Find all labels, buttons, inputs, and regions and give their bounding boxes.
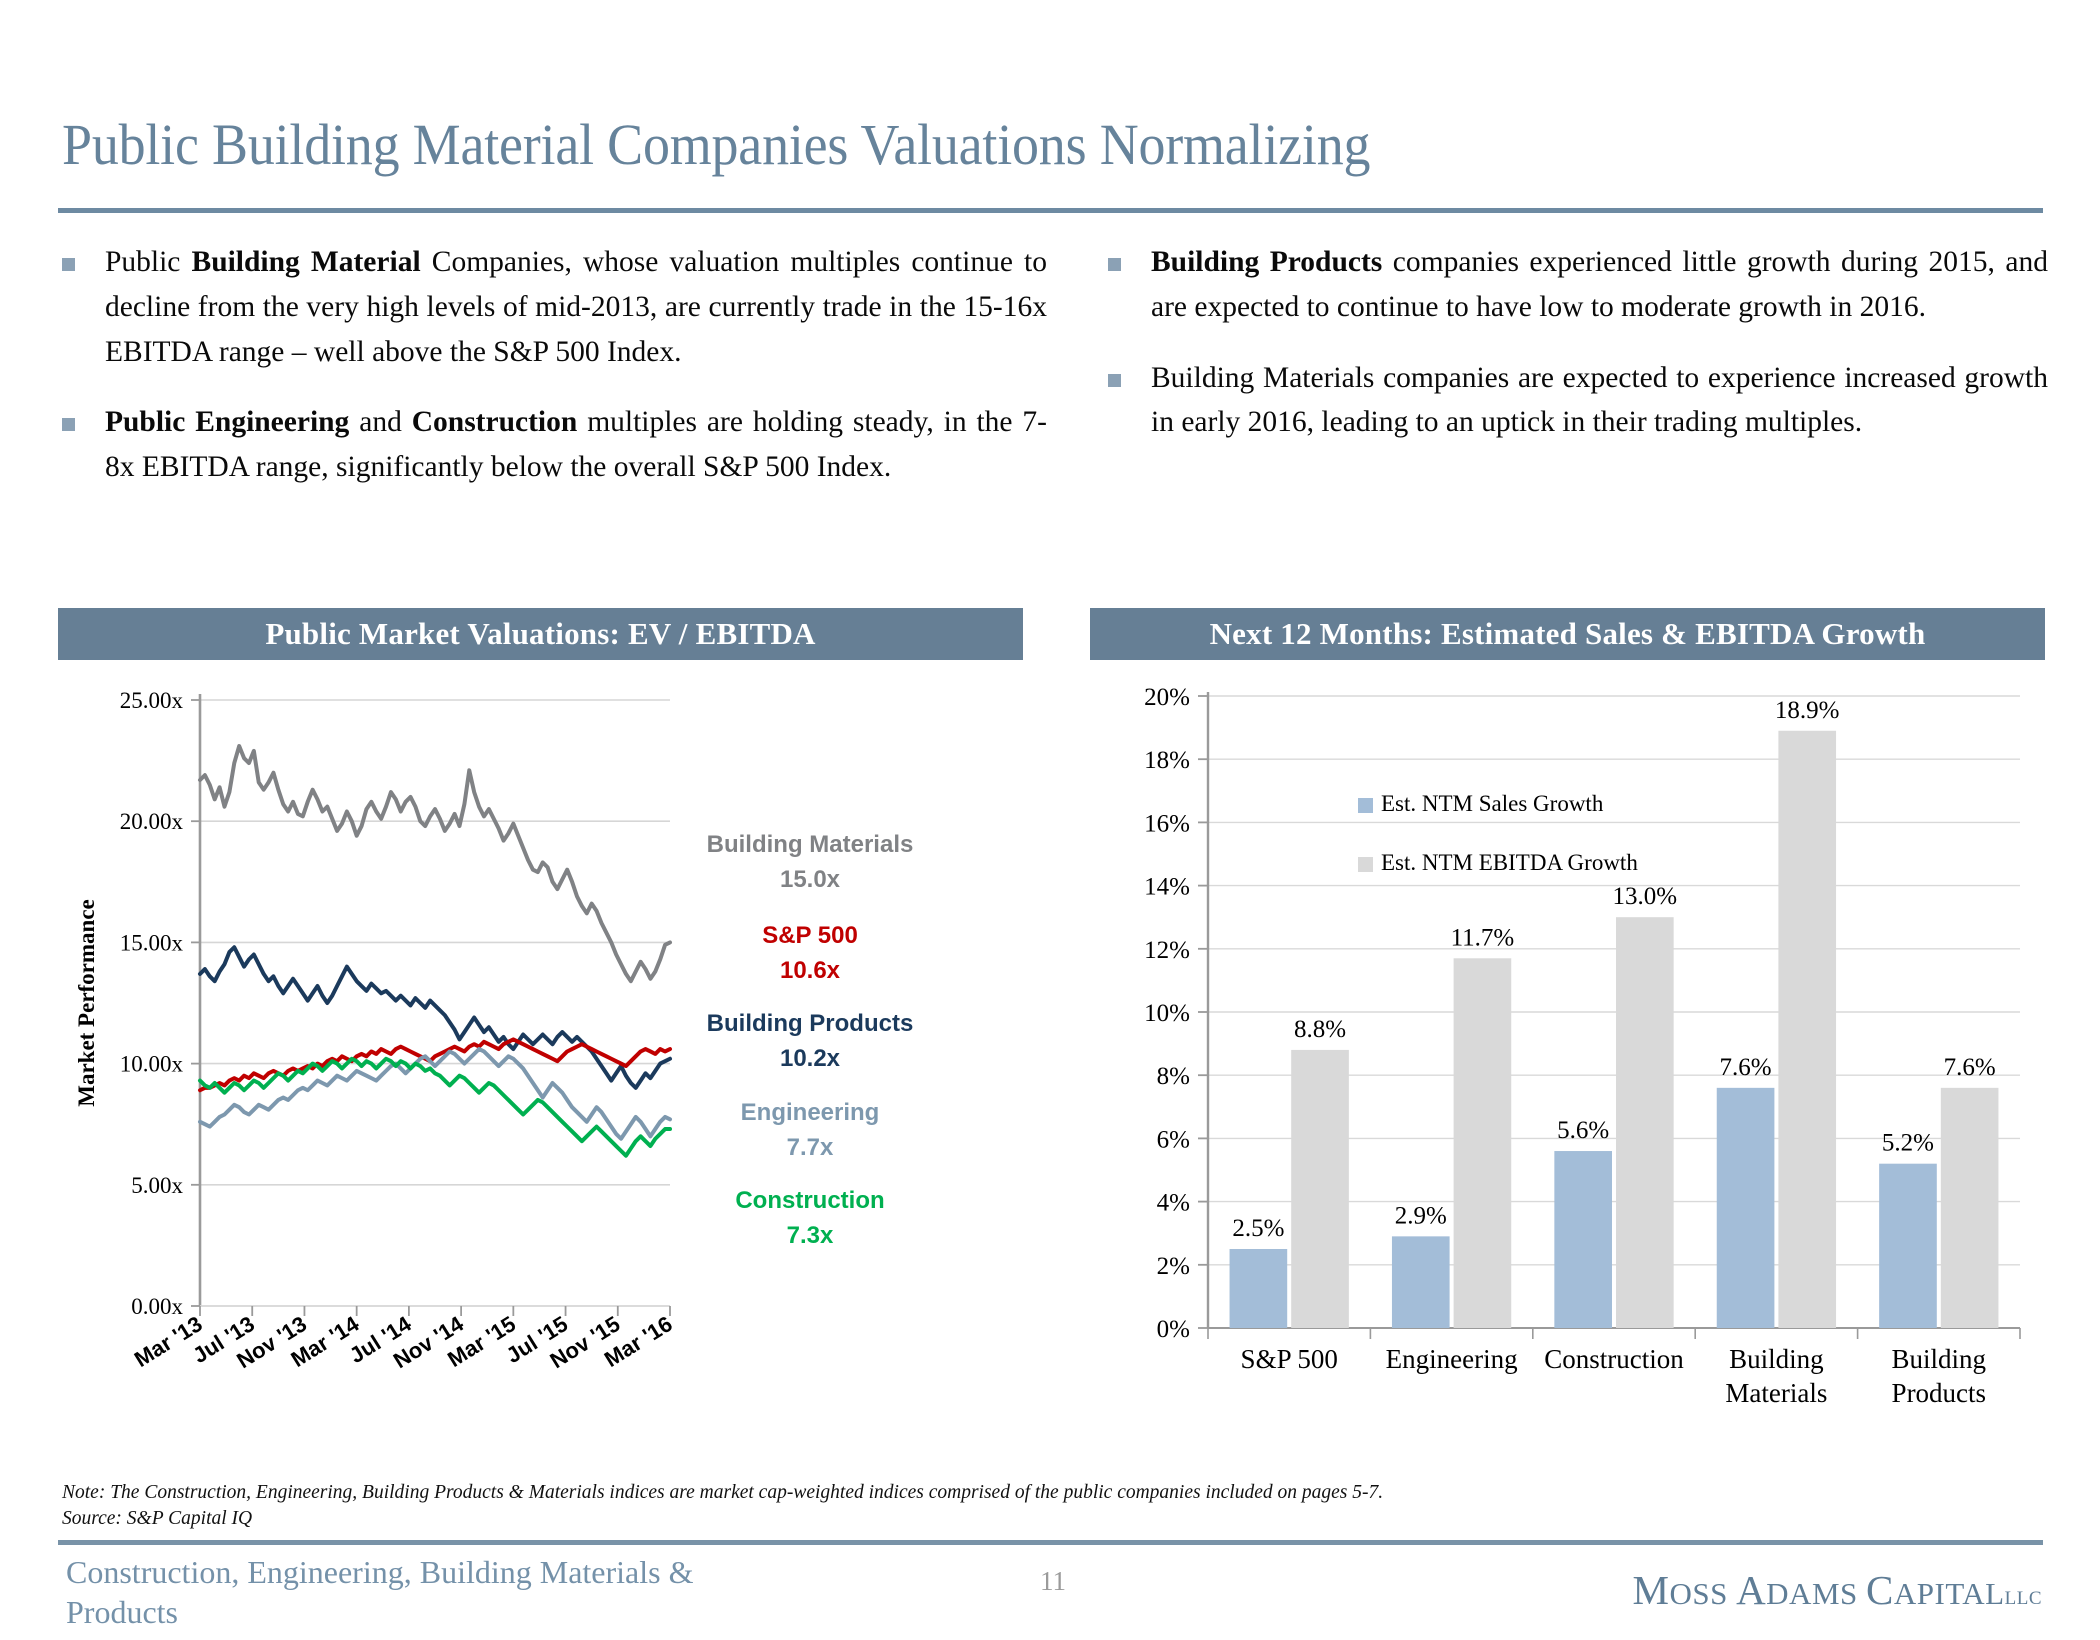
y-tick-label: 6% [1157,1126,1190,1153]
bullet-emphasis: Building Material [192,246,421,278]
y-tick-label: 25.00x [120,688,184,713]
legend-value-building-products: 10.2x [780,1045,841,1072]
y-tick-label: 18% [1144,747,1190,774]
footer-divider [58,1540,2043,1545]
bar-construction-sales [1554,1151,1612,1328]
bar-value-label: 13.0% [1613,883,1678,910]
legend-label-ebitda: Est. NTM EBITDA Growth [1381,850,1638,875]
logo-text-dams: DAMS [1766,1576,1866,1611]
line-series-building-materials [200,746,670,981]
y-tick-label: 20.00x [120,809,184,834]
bullet-marker-icon [1108,374,1121,387]
bar-chart-svg: 0%2%4%6%8%10%12%14%16%18%20%2.5%8.8%S&P … [1090,668,2050,1458]
bar-building-materials-ebitda [1778,731,1836,1328]
bar-building-products-sales [1879,1164,1937,1328]
logo-text-a: A [1736,1567,1766,1613]
bullet-text: Public Engineering and Construction mult… [105,400,1047,490]
legend-label-construction: Construction [735,1187,884,1214]
y-axis-title: Market Performance [74,899,99,1107]
bar-value-label: 7.6% [1720,1054,1772,1081]
legend-label-building-materials: Building Materials [707,831,914,858]
y-tick-label: 0.00x [131,1294,183,1319]
bar-building-materials-sales [1717,1088,1775,1328]
panel-header-valuations: Public Market Valuations: EV / EBITDA [58,608,1023,660]
legend-swatch-sales [1358,798,1373,813]
bullet-marker-icon [62,418,75,431]
y-tick-label: 5.00x [131,1173,183,1198]
bar-value-label: 11.7% [1451,924,1515,951]
y-tick-label: 14% [1144,874,1190,901]
y-tick-label: 0% [1157,1316,1190,1343]
legend-value-building-materials: 15.0x [780,866,841,893]
bullet-emphasis: Public Engineering [105,406,349,438]
logo-text-m: M [1632,1567,1669,1613]
bar-s-p-500-sales [1230,1249,1288,1328]
bar-value-label: 18.9% [1775,697,1840,724]
bullet-item: Building Materials companies are expecte… [1108,356,2048,446]
line-chart-svg: Market Performance0.00x5.00x10.00x15.00x… [58,668,1058,1458]
footnote-note: Note: The Construction, Engineering, Bui… [62,1480,1962,1506]
bullet-emphasis: Construction [412,406,578,438]
bar-value-label: 8.8% [1294,1016,1346,1043]
y-tick-label: 20% [1144,684,1190,711]
bullet-span: and [349,406,411,438]
moss-adams-capital-logo: MOSS ADAMS CAPITALLLC [1632,1566,2042,1614]
x-category-label: Building [1729,1344,1824,1374]
bullet-item: Building Products companies experienced … [1108,240,2048,330]
legend-label-s-p-500: S&P 500 [762,922,858,949]
logo-text-oss: OSS [1669,1576,1736,1611]
footnote-source: Source: S&P Capital IQ [62,1506,1962,1532]
y-tick-label: 10% [1144,1000,1190,1027]
bullet-text: Building Products companies experienced … [1151,240,2048,330]
y-tick-label: 2% [1157,1253,1190,1280]
legend-value-engineering: 7.7x [787,1134,834,1161]
legend-label-engineering: Engineering [741,1099,880,1126]
x-category-label: Construction [1544,1344,1684,1374]
bullet-column-left: Public Building Material Companies, whos… [62,240,1047,516]
legend-label-building-products: Building Products [707,1010,914,1037]
bullet-item: Public Engineering and Construction mult… [62,400,1047,490]
logo-text-llc: LLC [2005,1588,2042,1609]
footnote-block: Note: The Construction, Engineering, Bui… [62,1480,1962,1533]
bullet-column-right: Building Products companies experienced … [1108,240,2048,471]
page-title: Public Building Material Companies Valua… [62,116,1903,174]
x-category-label: Materials [1725,1378,1827,1408]
bar-engineering-sales [1392,1236,1450,1328]
bullet-text: Public Building Material Companies, whos… [105,240,1047,374]
line-chart-ev-ebitda: Market Performance0.00x5.00x10.00x15.00x… [58,668,1058,1458]
legend-value-construction: 7.3x [787,1222,834,1249]
bullet-marker-icon [1108,258,1121,271]
panel-header-growth: Next 12 Months: Estimated Sales & EBITDA… [1090,608,2045,660]
bullet-emphasis: Building Products [1151,246,1382,278]
bullet-span: Building Materials companies are expecte… [1151,362,2048,439]
x-category-label: Building [1892,1344,1987,1374]
y-tick-label: 4% [1157,1190,1190,1217]
y-tick-label: 12% [1144,937,1190,964]
y-tick-label: 16% [1144,810,1190,837]
bullet-marker-icon [62,258,75,271]
bar-engineering-ebitda [1454,958,1512,1328]
bar-value-label: 7.6% [1944,1054,1996,1081]
bar-value-label: 2.5% [1232,1215,1284,1242]
x-category-label: Engineering [1386,1344,1518,1374]
y-tick-label: 8% [1157,1063,1190,1090]
logo-text-c: C [1866,1567,1894,1613]
y-tick-label: 10.00x [120,1052,184,1077]
bar-chart-ntm-growth: 0%2%4%6%8%10%12%14%16%18%20%2.5%8.8%S&P … [1090,668,2050,1458]
bar-value-label: 5.6% [1557,1117,1609,1144]
legend-swatch-ebitda [1358,857,1373,872]
bullet-item: Public Building Material Companies, whos… [62,240,1047,374]
footer-section-label: Construction, Engineering, Building Mate… [66,1552,706,1632]
bar-value-label: 5.2% [1882,1130,1934,1157]
bar-building-products-ebitda [1941,1088,1999,1328]
bar-s-p-500-ebitda [1291,1050,1349,1328]
title-divider [58,208,2043,213]
legend-label-sales: Est. NTM Sales Growth [1381,791,1604,816]
legend-value-s-p-500: 10.6x [780,957,841,984]
bullet-span: Public [105,246,192,278]
y-tick-label: 15.00x [120,930,184,955]
x-category-label: Products [1892,1378,1987,1408]
bullet-text: Building Materials companies are expecte… [1151,356,2048,446]
bar-value-label: 2.9% [1395,1202,1447,1229]
bar-construction-ebitda [1616,917,1674,1328]
logo-text-apital: APITAL [1894,1576,2005,1611]
x-category-label: S&P 500 [1241,1344,1338,1374]
page-number: 11 [1040,1566,1066,1597]
